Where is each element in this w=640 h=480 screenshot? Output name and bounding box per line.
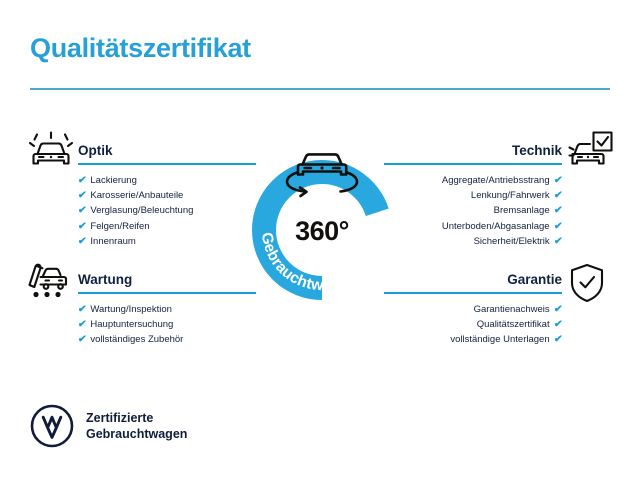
vw-logo (30, 404, 74, 448)
section-divider-optik (78, 163, 256, 165)
list-item-label: Unterboden/Abgasanlage (442, 219, 550, 234)
list-item-label: Wartung/Inspektion (90, 302, 172, 317)
check-icon: ✔ (553, 188, 563, 203)
check-icon: ✔ (553, 234, 563, 249)
check-icon: ✔ (77, 219, 87, 234)
page-title: Qualitätszertifikat (30, 33, 251, 64)
list-item-label: vollständige Unterlagen (450, 332, 549, 347)
footer-brand-text: Zertifizierte Gebrauchtwagen (86, 410, 187, 442)
list-item: Bremsanlage✔ (384, 203, 562, 218)
list-item-label: Hauptuntersuchung (90, 317, 173, 332)
check-icon: ✔ (77, 234, 87, 249)
list-item: ✔Verglasung/Beleuchtung (78, 203, 256, 218)
list-item: vollständige Unterlagen✔ (384, 332, 562, 347)
list-item: Unterboden/Abgasanlage✔ (384, 219, 562, 234)
list-item: ✔Hauptuntersuchung (78, 317, 256, 332)
list-item-label: Felgen/Reifen (90, 219, 149, 234)
checklist-garantie: Garantienachweis✔ Qualitätszertifikat✔ v… (384, 302, 562, 348)
list-item: ✔Innenraum (78, 234, 256, 249)
list-item-label: Verglasung/Beleuchtung (90, 203, 193, 218)
list-item-label: Karosserie/Anbauteile (90, 188, 183, 203)
section-garantie: Garantie Garantienachweis✔ Qualitätszert… (384, 272, 562, 348)
checklist-optik: ✔Lackierung ✔Karosserie/Anbauteile ✔Verg… (78, 173, 256, 249)
footer-line-2: Gebrauchtwagen (86, 426, 187, 442)
section-optik: Optik ✔Lackierung ✔Karosserie/Anbauteile… (78, 143, 256, 249)
car-checkbox-icon (568, 130, 614, 174)
checklist-technik: Aggregate/Antriebsstrang✔ Lenkung/Fahrwe… (384, 173, 562, 249)
check-icon: ✔ (77, 317, 87, 332)
section-heading-garantie: Garantie (384, 272, 562, 288)
check-icon: ✔ (77, 188, 87, 203)
section-heading-technik: Technik (384, 143, 562, 159)
badge-degrees: 360° (248, 216, 396, 247)
list-item-label: Bremsanlage (494, 203, 550, 218)
list-item-label: Innenraum (90, 234, 135, 249)
check-icon: ✔ (77, 302, 87, 317)
check-icon: ✔ (77, 173, 87, 188)
list-item: ✔Lackierung (78, 173, 256, 188)
list-item: ✔vollständiges Zubehör (78, 332, 256, 347)
list-item: ✔Wartung/Inspektion (78, 302, 256, 317)
footer-brand: Zertifizierte Gebrauchtwagen (30, 404, 187, 448)
check-icon: ✔ (553, 317, 563, 332)
check-icon: ✔ (553, 219, 563, 234)
section-divider-technik (384, 163, 562, 165)
list-item-label: Lenkung/Fahrwerk (471, 188, 550, 203)
certificate-page: Qualitätszertifikat Optik ✔Lackierung ✔K… (0, 0, 640, 480)
list-item-label: Garantienachweis (474, 302, 550, 317)
section-technik: Technik Aggregate/Antriebsstrang✔ Lenkun… (384, 143, 562, 249)
list-item: Qualitätszertifikat✔ (384, 317, 562, 332)
list-item: Aggregate/Antriebsstrang✔ (384, 173, 562, 188)
checklist-wartung: ✔Wartung/Inspektion ✔Hauptuntersuchung ✔… (78, 302, 256, 348)
list-item-label: vollständiges Zubehör (90, 332, 183, 347)
section-wartung: Wartung ✔Wartung/Inspektion ✔Hauptunters… (78, 272, 256, 348)
check-icon: ✔ (77, 203, 87, 218)
footer-line-1: Zertifizierte (86, 410, 187, 426)
check-icon: ✔ (553, 203, 563, 218)
header-divider (30, 88, 610, 90)
shield-check-icon (564, 262, 610, 306)
section-heading-wartung: Wartung (78, 272, 256, 288)
section-divider-wartung (78, 292, 256, 294)
list-item: Garantienachweis✔ (384, 302, 562, 317)
list-item: ✔Felgen/Reifen (78, 219, 256, 234)
section-heading-optik: Optik (78, 143, 256, 159)
check-icon: ✔ (553, 302, 563, 317)
car-shine-icon (28, 130, 74, 174)
check-icon: ✔ (553, 173, 563, 188)
list-item-label: Aggregate/Antriebsstrang (442, 173, 550, 188)
list-item: ✔Karosserie/Anbauteile (78, 188, 256, 203)
check-icon: ✔ (77, 332, 87, 347)
service-pen-car-icon (26, 261, 72, 305)
badge-360-gebrauchtwagen-check: Gebrauchtwagen-Check 360° (248, 150, 396, 302)
list-item-label: Qualitätszertifikat (477, 317, 550, 332)
list-item: Lenkung/Fahrwerk✔ (384, 188, 562, 203)
section-divider-garantie (384, 292, 562, 294)
list-item-label: Lackierung (90, 173, 136, 188)
list-item: Sicherheit/Elektrik✔ (384, 234, 562, 249)
list-item-label: Sicherheit/Elektrik (474, 234, 550, 249)
check-icon: ✔ (553, 332, 563, 347)
